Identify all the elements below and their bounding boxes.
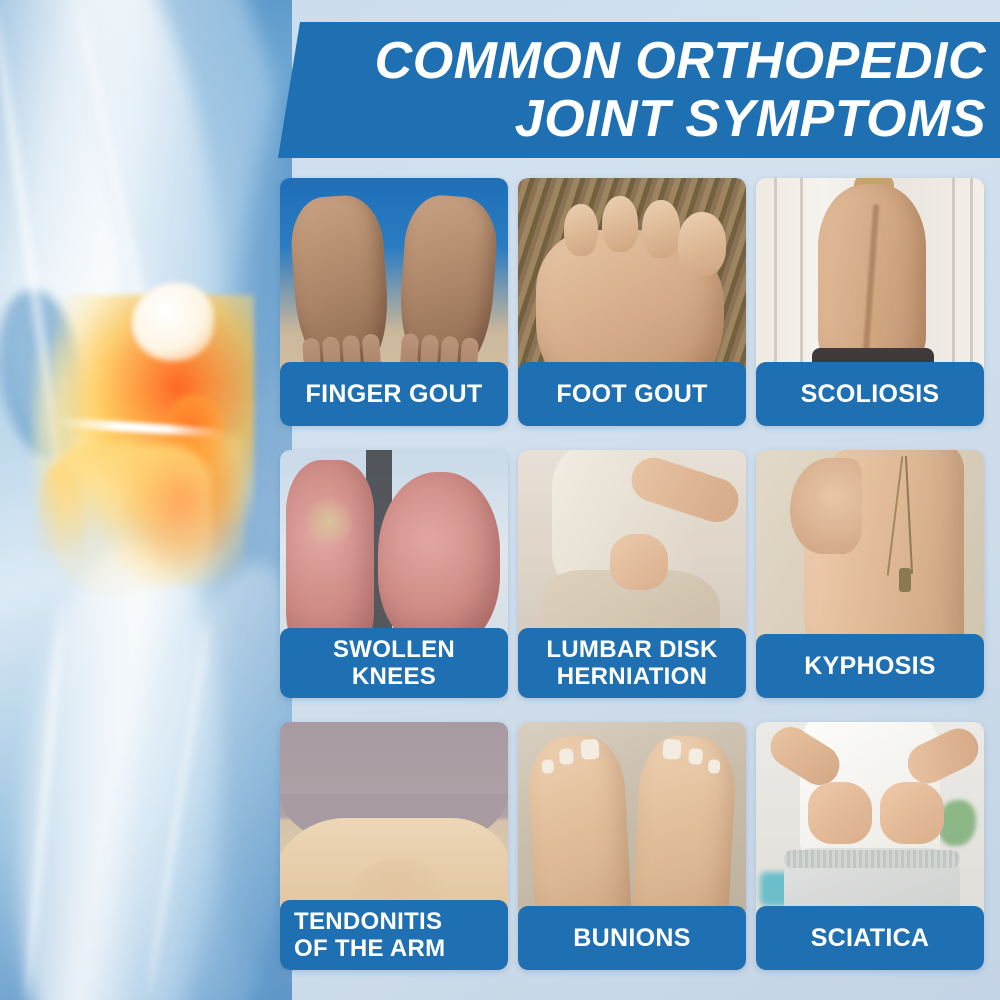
page-title-line-1: COMMON ORTHOPEDIC (375, 32, 986, 90)
card-label-scoliosis: SCOLIOSIS (756, 362, 984, 426)
card-label-bunions: BUNIONS (518, 906, 746, 970)
symptom-card-tendonitis-of-the-arm[interactable]: TENDONITISOF THE ARM (280, 722, 508, 970)
infographic-poster: COMMON ORTHOPEDIC JOINT SYMPTOMS (0, 0, 1000, 1000)
symptom-card-finger-gout[interactable]: FINGER GOUT (280, 178, 508, 426)
card-label-text: FINGER GOUT (306, 380, 483, 408)
card-label-finger-gout: FINGER GOUT (280, 362, 508, 426)
inflamed-knee-joint-glow (14, 275, 264, 595)
fibula-bone (38, 465, 82, 595)
card-label-text: FOOT GOUT (556, 380, 707, 408)
symptom-card-kyphosis[interactable]: KYPHOSIS (756, 450, 984, 698)
card-label-text: KYPHOSIS (804, 652, 936, 680)
card-label-kyphosis: KYPHOSIS (756, 634, 984, 698)
title-banner: COMMON ORTHOPEDIC JOINT SYMPTOMS (278, 22, 1000, 158)
symptom-card-foot-gout[interactable]: FOOT GOUT (518, 178, 746, 426)
card-label-lumbar-disk-herniation: LUMBAR DISKHERNIATION (518, 628, 746, 698)
card-label-text: TENDONITISOF THE ARM (294, 908, 445, 962)
card-label-foot-gout: FOOT GOUT (518, 362, 746, 426)
symptom-card-bunions[interactable]: BUNIONS (518, 722, 746, 970)
knee-anatomy-illustration (0, 0, 292, 1000)
symptom-card-scoliosis[interactable]: SCOLIOSIS (756, 178, 984, 426)
card-label-text: LUMBAR DISKHERNIATION (546, 636, 717, 690)
card-label-swollen-knees: SWOLLENKNEES (280, 628, 508, 698)
symptom-card-grid: FINGER GOUT FOOT GOUT (280, 178, 984, 978)
card-label-sciatica: SCIATICA (756, 906, 984, 970)
card-label-text: BUNIONS (573, 924, 690, 952)
symptom-card-lumbar-disk-herniation[interactable]: LUMBAR DISKHERNIATION (518, 450, 746, 698)
card-label-text: SWOLLENKNEES (333, 636, 455, 690)
card-label-text: SCIATICA (811, 924, 930, 952)
femur-condyle (132, 283, 214, 361)
symptom-card-sciatica[interactable]: SCIATICA (756, 722, 984, 970)
symptom-card-swollen-knees[interactable]: SWOLLENKNEES (280, 450, 508, 698)
page-title-line-2: JOINT SYMPTOMS (515, 90, 986, 148)
card-label-text: SCOLIOSIS (801, 380, 940, 408)
card-label-tendonitis-of-the-arm: TENDONITISOF THE ARM (280, 900, 508, 970)
